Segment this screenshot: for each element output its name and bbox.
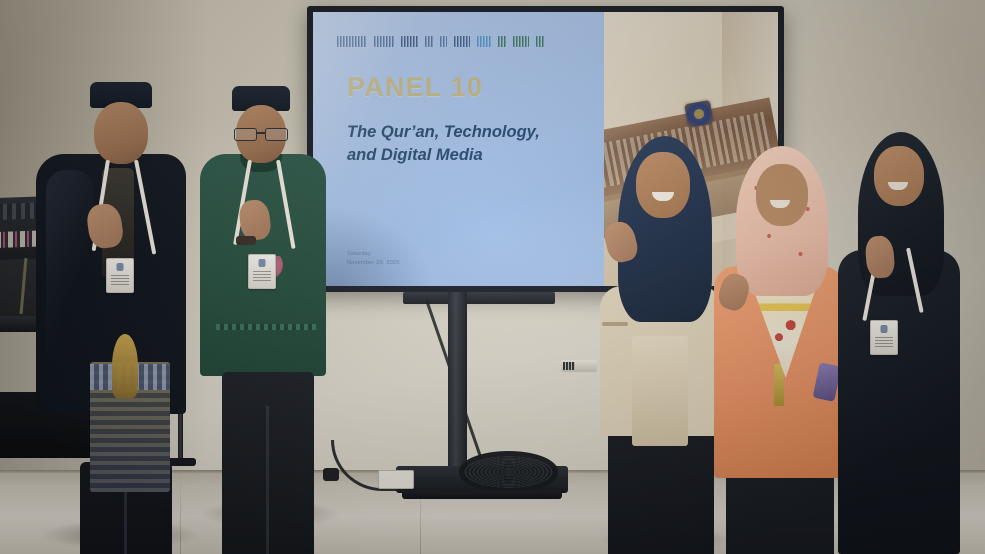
- panel-title-line-1: The Qur’an, Technology,: [347, 123, 540, 141]
- panel-title-heading: The Qur’an, Technology, and Digital Medi…: [347, 121, 586, 167]
- glasses-lens-left: [234, 128, 257, 141]
- name-badge: [870, 320, 898, 355]
- panel-title-line-2: and Digital Media: [347, 146, 483, 164]
- jacket-highlight: [46, 170, 94, 370]
- sponsor-logo-row: [337, 34, 586, 48]
- trouser-seam: [124, 492, 127, 554]
- ppdz-wordmark-logo: [454, 36, 470, 47]
- face: [756, 164, 808, 226]
- person-man-in-black-batik: [28, 82, 188, 554]
- name-badge: [106, 258, 134, 293]
- keris-ornament: [112, 334, 138, 398]
- coiled-cable: [459, 451, 558, 493]
- blue-wordmark-logo: [477, 36, 491, 47]
- wristwatch: [236, 236, 256, 245]
- person-woman-in-peach-outfit: [712, 146, 846, 554]
- wall-socket: [378, 470, 414, 489]
- emblem-logo: [425, 36, 433, 47]
- glasses-icon: [234, 128, 288, 139]
- person-man-in-green-shirt: [196, 86, 336, 554]
- institute-seal-logo: [536, 36, 545, 47]
- face: [874, 146, 924, 206]
- tunic-panel: [632, 336, 688, 446]
- nun-wordmark-logo: [401, 36, 418, 47]
- sleeve-stripe: [602, 322, 628, 326]
- shirt-hem-band: [216, 324, 316, 330]
- person-woman-in-black-abaya: [838, 132, 960, 554]
- remote-control-tray: [561, 360, 597, 372]
- keychain: [774, 364, 784, 406]
- trouser-seam: [266, 406, 269, 554]
- arabic-script-logo: [374, 36, 394, 47]
- face: [636, 152, 690, 218]
- tv-stand-feet: [402, 491, 562, 499]
- green-wordmark-logo: [513, 36, 529, 47]
- head: [94, 102, 148, 164]
- glasses-lens-right: [265, 128, 288, 141]
- ministry-arabic-wordmark-logo: [337, 36, 367, 47]
- torch-emblem-logo: [440, 36, 447, 47]
- circle-emblem-logo: [498, 36, 506, 47]
- name-badge: [248, 254, 276, 289]
- presentation-slide: PANEL 10 The Qur’an, Technology, and Dig…: [313, 12, 604, 286]
- event-photograph: PANEL 10 The Qur’an, Technology, and Dig…: [0, 0, 985, 554]
- person-woman-in-navy-hijab: [596, 136, 724, 554]
- panel-number-heading: PANEL 10: [347, 72, 586, 103]
